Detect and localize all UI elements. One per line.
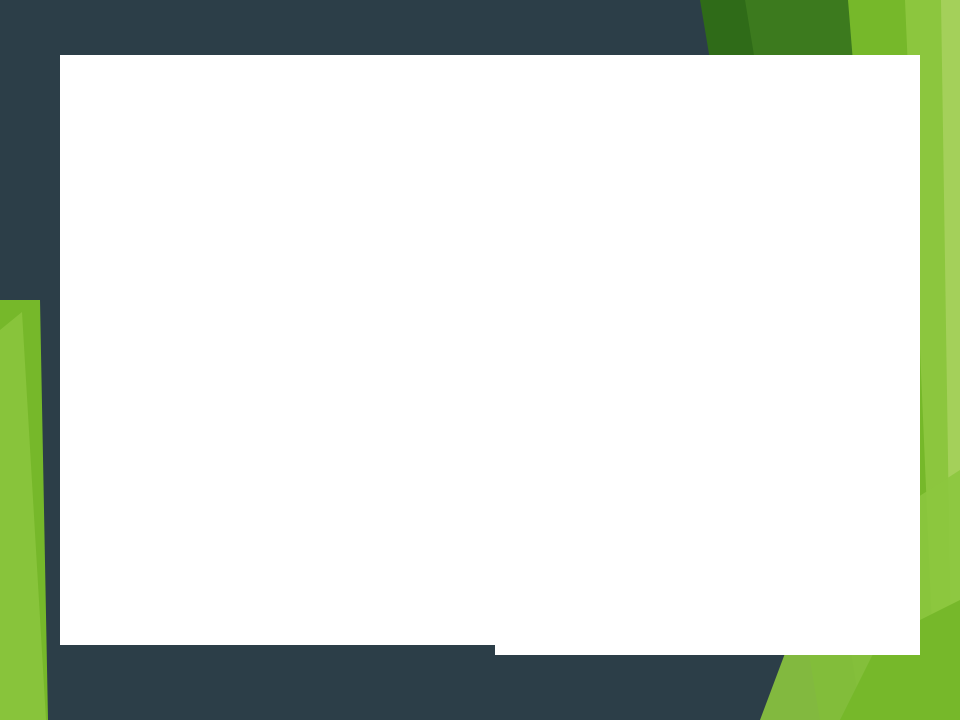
content-panel-senior	[495, 85, 920, 655]
